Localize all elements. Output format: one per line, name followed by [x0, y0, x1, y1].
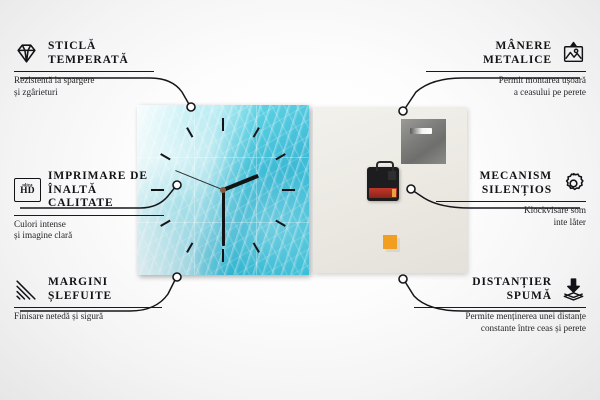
connector-dot-foam-spacer	[399, 275, 407, 283]
feature-divider	[14, 215, 164, 216]
feature-divider	[414, 307, 586, 308]
feature-tempered-glass: STICLĂ TEMPERATĂ Rezistentă la spargere …	[14, 40, 154, 98]
diamond-icon	[14, 41, 39, 66]
feature-header: STICLĂ TEMPERATĂ	[14, 40, 154, 67]
feature-description: Permit montarea ușoară a ceasului pe per…	[426, 75, 586, 98]
feature-title: STICLĂ TEMPERATĂ	[48, 40, 129, 67]
feature-header: DISTANȚIER SPUMĂ	[414, 276, 586, 303]
feature-title: MARGINI ȘLEFUITE	[48, 276, 112, 303]
diagonal-lines-icon	[14, 277, 39, 302]
feature-description: Culori intense și imagine clară	[14, 219, 164, 242]
feature-title: DISTANȚIER SPUMĂ	[472, 276, 552, 303]
gear-icon	[561, 171, 586, 196]
feature-divider	[14, 307, 162, 308]
feature-foam-spacer: DISTANȚIER SPUMĂ Permite menținerea unei…	[414, 276, 586, 334]
feature-silent-mechanism: MECANISM SILENȚIOS Klockvisare som inte …	[436, 170, 586, 228]
feature-title: MECANISM SILENȚIOS	[480, 170, 552, 197]
connector-dot-tempered-glass	[187, 103, 195, 111]
ultra-hd-badge-icon: ultra HD	[14, 178, 39, 203]
feature-divider	[14, 71, 154, 72]
feature-header: ultra HD IMPRIMARE DE ÎNALTĂ CALITATE	[14, 170, 164, 211]
connector-dot-metal-handles	[399, 107, 407, 115]
feature-divider	[426, 71, 586, 72]
feature-hd-print: ultra HD IMPRIMARE DE ÎNALTĂ CALITATE Cu…	[14, 170, 164, 242]
hanging-frame-icon	[561, 41, 586, 66]
feature-metal-handles: MÂNERE METALICE Permit montarea ușoară a…	[426, 40, 586, 98]
feature-description: Klockvisare som inte låter	[436, 205, 586, 228]
infographic-canvas: STICLĂ TEMPERATĂ Rezistentă la spargere …	[0, 0, 600, 400]
feature-header: MARGINI ȘLEFUITE	[14, 276, 162, 303]
feature-header: MECANISM SILENȚIOS	[436, 170, 586, 197]
feature-title: MÂNERE METALICE	[483, 40, 552, 67]
connector-dot-polished-edges	[173, 273, 181, 281]
feature-description: Finisare netedă și sigură	[14, 311, 162, 323]
arrow-into-layer-icon	[561, 277, 586, 302]
feature-description: Rezistentă la spargere și zgârieturi	[14, 75, 154, 98]
feature-polished-edges: MARGINI ȘLEFUITE Finisare netedă și sigu…	[14, 276, 162, 323]
feature-header: MÂNERE METALICE	[426, 40, 586, 67]
feature-description: Permite menținerea unei distanțe constan…	[414, 311, 586, 334]
connector-dot-silent-mechanism	[407, 185, 415, 193]
connector-dot-hd-print	[173, 181, 181, 189]
feature-title: IMPRIMARE DE ÎNALTĂ CALITATE	[48, 170, 164, 211]
feature-divider	[436, 201, 586, 202]
